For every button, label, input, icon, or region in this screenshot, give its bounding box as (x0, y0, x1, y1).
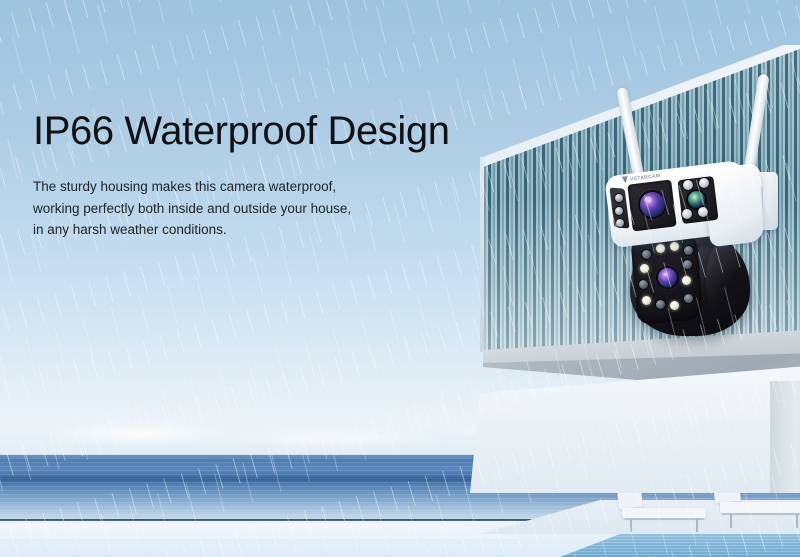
ir-led (642, 250, 651, 259)
ptz-camera-lens (658, 268, 677, 287)
side-ir-led (615, 194, 623, 202)
spotlight-led (670, 242, 679, 251)
ir-led (639, 280, 648, 289)
ir-led (656, 300, 665, 309)
ir-led (683, 180, 693, 190)
side-ir-led (616, 219, 624, 227)
product-banner: VSTARCAM IP66 Waterproof Design The stur… (0, 0, 800, 557)
spotlight-led (656, 244, 665, 253)
side-ir-led (615, 207, 623, 215)
spotlight-led (670, 301, 679, 310)
ir-led (698, 207, 708, 217)
body-line: working perfectly both inside and outsid… (33, 198, 503, 220)
balustrade-wall (470, 363, 800, 493)
ir-led (684, 246, 693, 255)
spotlight-led (682, 276, 691, 285)
body-line: The sturdy housing makes this camera wat… (33, 176, 503, 198)
ir-led (682, 209, 692, 219)
ir-led (699, 178, 709, 188)
body-line: in any harsh weather conditions. (33, 219, 503, 241)
page-title: IP66 Waterproof Design (33, 108, 503, 154)
spotlight-led (642, 296, 651, 305)
ir-led (684, 294, 693, 303)
body-copy: The sturdy housing makes this camera wat… (33, 176, 503, 241)
ir-led (683, 260, 692, 269)
lounge-chair (618, 486, 728, 536)
support-column (770, 381, 800, 493)
spotlight-led (640, 264, 649, 273)
brand-mark-icon (622, 176, 629, 184)
security-camera: VSTARCAM (600, 70, 790, 360)
copy-block: IP66 Waterproof Design The sturdy housin… (33, 108, 503, 241)
